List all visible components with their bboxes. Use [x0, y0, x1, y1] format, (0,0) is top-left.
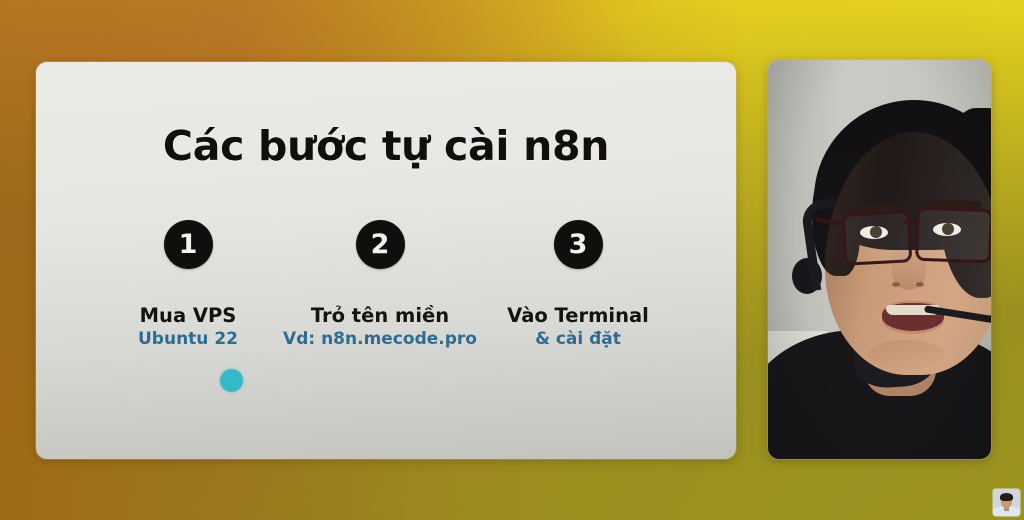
steps-row: 1 Mua VPS Ubuntu 22 2 Trỏ tên miền Vd: n… — [96, 220, 676, 350]
presenter-webcam-panel[interactable] — [768, 60, 991, 459]
step-label: Trỏ tên miền — [280, 305, 480, 327]
presenter-chin — [868, 340, 944, 370]
step-label: Mua VPS — [96, 305, 280, 327]
step-sublabel: Vd: n8n.mecode.pro — [280, 330, 480, 350]
avatar[interactable] — [993, 489, 1020, 516]
page-title: Các bước tự cài n8n — [36, 124, 736, 169]
step-sublabel: Ubuntu 22 — [96, 330, 280, 350]
step-label: Vào Terminal — [480, 305, 676, 327]
cursor-highlight-dot — [220, 369, 243, 392]
step-number-badge: 2 — [356, 220, 405, 269]
step-item-2[interactable]: 2 Trỏ tên miền Vd: n8n.mecode.pro — [280, 220, 480, 350]
presenter-nostril-right — [916, 282, 924, 287]
step-number-badge: 1 — [164, 220, 213, 269]
step-sublabel: & cài đặt — [480, 330, 676, 350]
step-item-1[interactable]: 1 Mua VPS Ubuntu 22 — [96, 220, 280, 350]
screen-recording-frame: Các bước tự cài n8n 1 Mua VPS Ubuntu 22 … — [0, 0, 1024, 520]
step-item-3[interactable]: 3 Vào Terminal & cài đặt — [480, 220, 676, 350]
avatar-hair — [1000, 493, 1013, 501]
presentation-slide[interactable]: Các bước tự cài n8n 1 Mua VPS Ubuntu 22 … — [36, 62, 736, 459]
glasses-lens-right — [915, 207, 991, 264]
step-number-badge: 3 — [554, 220, 603, 269]
presenter-nostril-left — [892, 282, 900, 287]
